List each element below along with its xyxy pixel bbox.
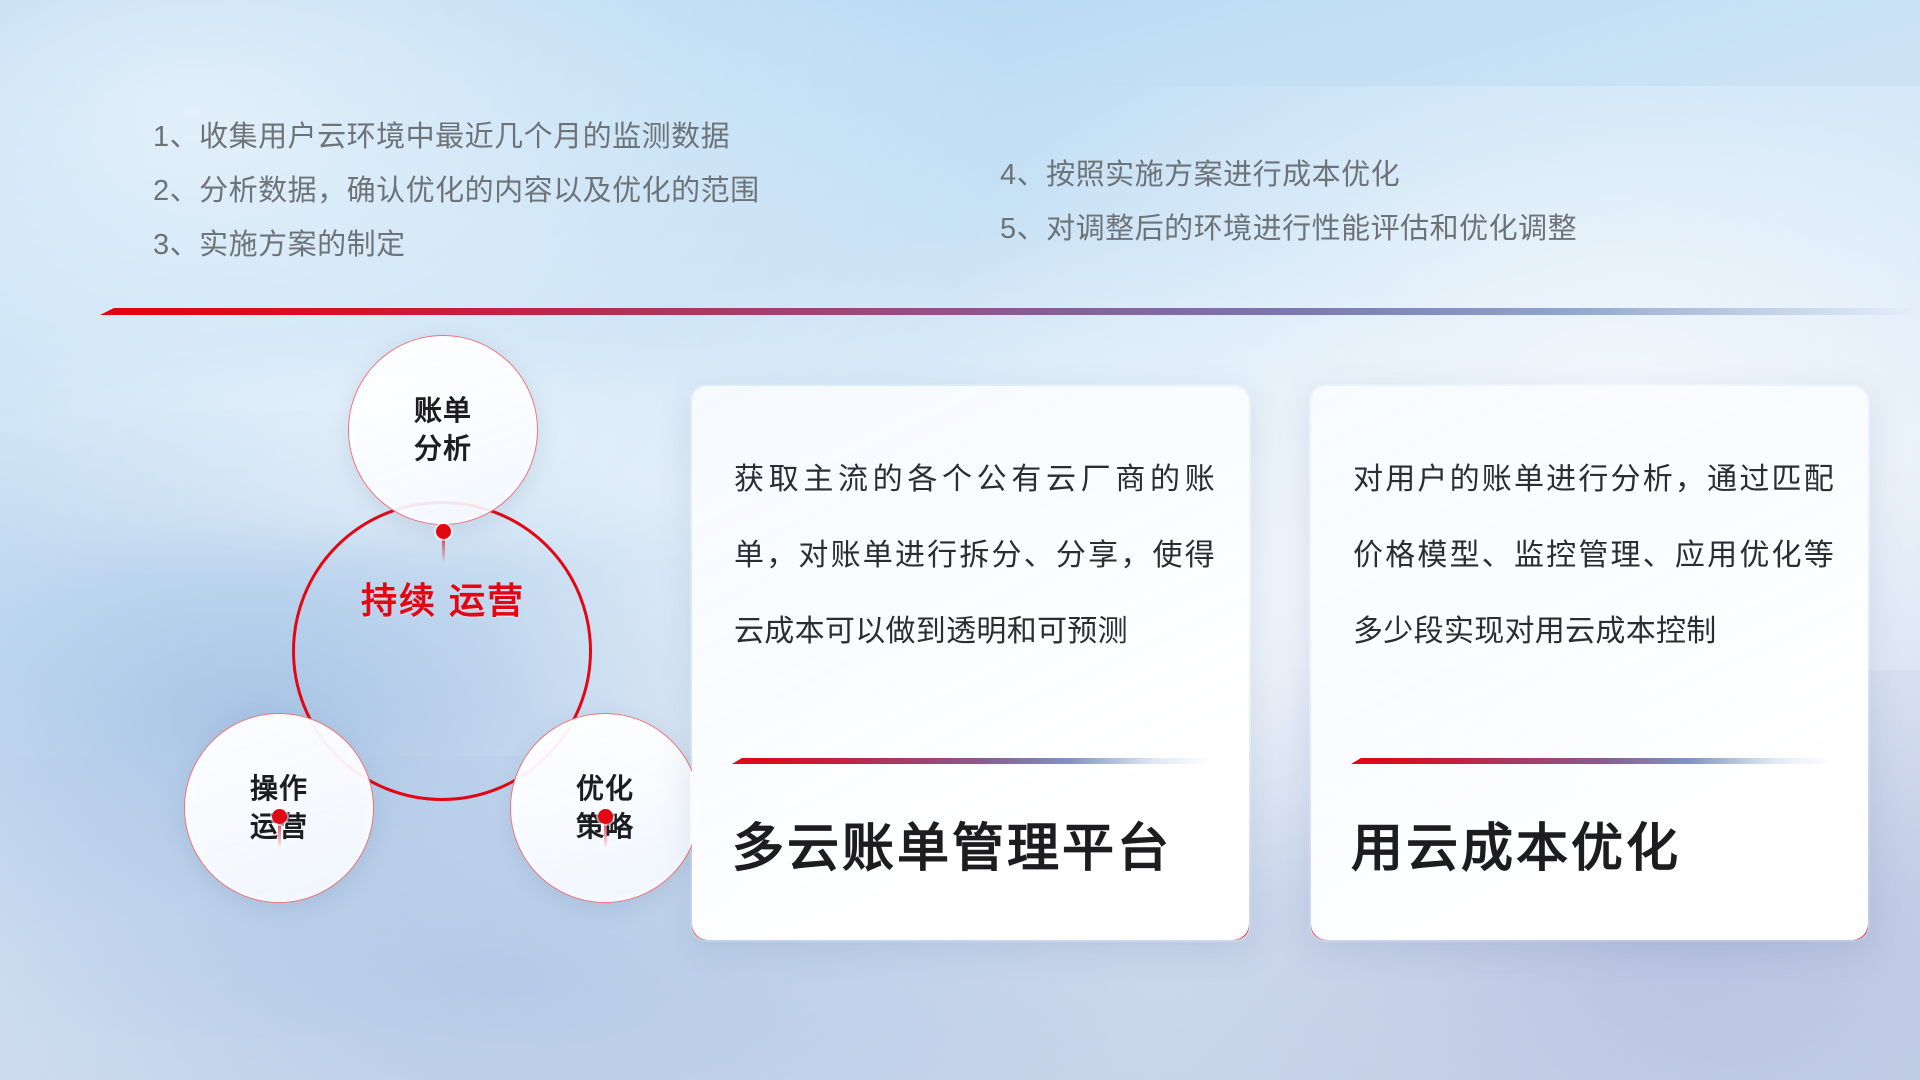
- process-step-4: 4、按照实施方案进行成本优化: [1000, 148, 1577, 202]
- diagram-node-operations[interactable]: 操作 运营: [184, 713, 374, 903]
- feature-card-multicloud-billing-description: 获取主流的各个公有云厂商的账单，对账单进行拆分、分享，使得云成本可以做到透明和可…: [734, 442, 1215, 670]
- diagram-node-bill-analysis-line1: 账单: [414, 392, 472, 430]
- feature-card-cloud-cost-optimization-description: 对用户的账单进行分析，通过匹配价格模型、监控管理、应用优化等多少段实现对用云成本…: [1353, 442, 1834, 670]
- diagram-node-tail-top: [442, 537, 445, 563]
- feature-card-multicloud-billing-title: 多云账单管理平台: [732, 818, 1222, 880]
- feature-card-multicloud-billing[interactable]: 获取主流的各个公有云厂商的账单，对账单进行拆分、分享，使得云成本可以做到透明和可…: [690, 384, 1251, 942]
- feature-cards: 获取主流的各个公有云厂商的账单，对账单进行拆分、分享，使得云成本可以做到透明和可…: [690, 384, 1870, 944]
- diagram-node-optimization-strategy-line1: 优化: [576, 770, 634, 808]
- diagram-node-bill-analysis[interactable]: 账单 分析: [348, 335, 538, 525]
- diagram-node-operations-line1: 操作: [250, 770, 308, 808]
- process-step-3: 3、实施方案的制定: [153, 218, 760, 272]
- process-step-1: 1、收集用户云环境中最近几个月的监测数据: [153, 110, 760, 164]
- diagram-node-bill-analysis-line2: 分析: [414, 430, 472, 468]
- feature-card-multicloud-billing-body: 获取主流的各个公有云厂商的账单，对账单进行拆分、分享，使得云成本可以做到透明和可…: [734, 442, 1215, 670]
- continuous-operation-diagram: 账单 分析 操作 运营 优化 策略 持续 运营: [100, 345, 660, 955]
- process-step-2: 2、分析数据，确认优化的内容以及优化的范围: [153, 164, 760, 218]
- diagram-node-optimization-strategy[interactable]: 优化 策略: [510, 713, 700, 903]
- diagram-dot-bottom-right: [598, 809, 613, 824]
- diagram-node-tail-bottom-left: [278, 822, 281, 848]
- feature-card-cloud-cost-optimization-title: 用云成本优化: [1351, 818, 1841, 880]
- feature-card-cloud-cost-optimization-rule: [1351, 758, 1833, 764]
- diagram-node-tail-bottom-right: [604, 822, 607, 848]
- diagram-dot-bottom-left: [272, 809, 287, 824]
- section-divider: [100, 308, 1920, 320]
- process-steps-list: 1、收集用户云环境中最近几个月的监测数据 2、分析数据，确认优化的内容以及优化的…: [0, 110, 1920, 300]
- diagram-center-label-line2: 运营: [449, 580, 525, 621]
- divider-gradient-line: [100, 308, 1920, 315]
- process-steps-right-column: 4、按照实施方案进行成本优化 5、对调整后的环境进行性能评估和优化调整: [1000, 148, 1577, 256]
- diagram-dot-top: [436, 524, 451, 539]
- feature-card-cloud-cost-optimization[interactable]: 对用户的账单进行分析，通过匹配价格模型、监控管理、应用优化等多少段实现对用云成本…: [1309, 384, 1870, 942]
- diagram-center-label: 持续 运营: [338, 577, 548, 625]
- process-step-5: 5、对调整后的环境进行性能评估和优化调整: [1000, 202, 1577, 256]
- diagram-center-label-line1: 持续: [361, 580, 437, 621]
- process-steps-left-column: 1、收集用户云环境中最近几个月的监测数据 2、分析数据，确认优化的内容以及优化的…: [153, 110, 760, 272]
- feature-card-cloud-cost-optimization-body: 对用户的账单进行分析，通过匹配价格模型、监控管理、应用优化等多少段实现对用云成本…: [1353, 442, 1834, 670]
- feature-card-multicloud-billing-rule: [732, 758, 1214, 764]
